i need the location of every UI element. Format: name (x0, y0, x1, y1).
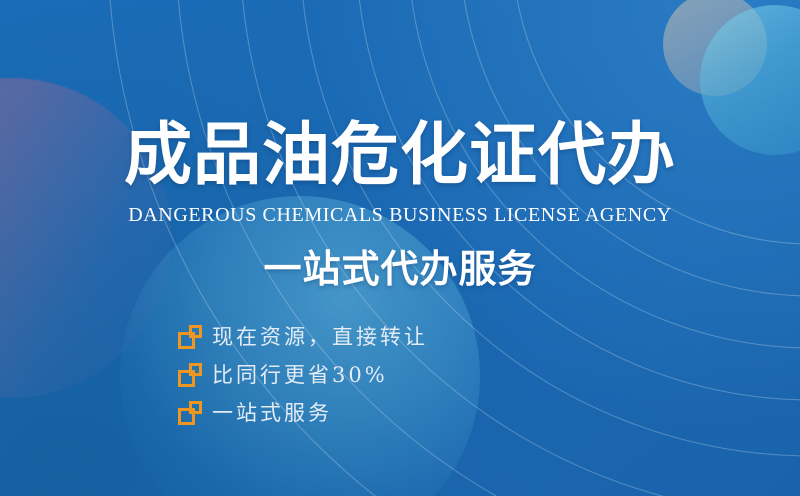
banner-chinese-subtitle: 一站式代办服务 (0, 247, 800, 293)
feature-item: 一站式服务 (178, 394, 598, 432)
overlapping-squares-icon (178, 325, 202, 349)
banner-content: 成品油危化证代办 DANGEROUS CHEMICALS BUSINESS LI… (0, 0, 800, 496)
banner-main-title: 成品油危化证代办 (0, 117, 800, 193)
feature-item-label: 现在资源，直接转让 (212, 323, 428, 351)
feature-item: 现在资源，直接转让 (178, 318, 598, 356)
feature-item-label: 比同行更省30% (212, 361, 388, 389)
feature-list: 现在资源，直接转让 比同行更省30% 一站式服务 (178, 318, 598, 432)
promo-banner: 成品油危化证代办 DANGEROUS CHEMICALS BUSINESS LI… (0, 0, 800, 496)
overlapping-squares-icon (178, 363, 202, 387)
overlapping-squares-icon (178, 401, 202, 425)
feature-item-label: 一站式服务 (212, 399, 332, 427)
feature-item: 比同行更省30% (178, 356, 598, 394)
banner-english-subtitle: DANGEROUS CHEMICALS BUSINESS LICENSE AGE… (0, 203, 800, 227)
